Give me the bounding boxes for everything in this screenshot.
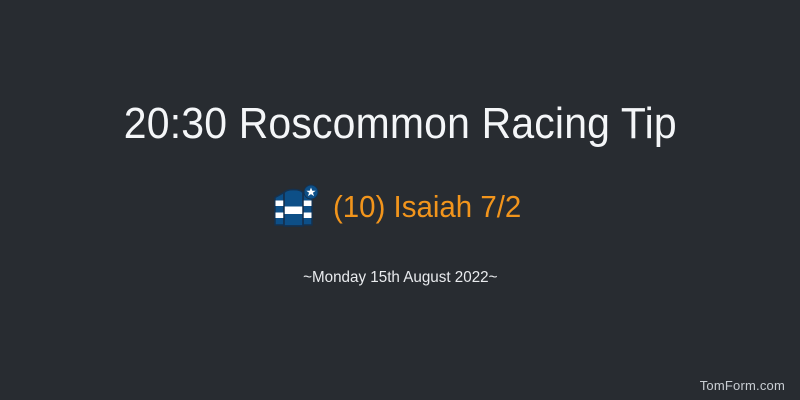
jockey-silks-icon (269, 184, 321, 230)
tip-selection-text: (10) Isaiah 7/2 (333, 189, 521, 225)
title-row: 20:30 Roscommon Racing Tip (0, 98, 800, 150)
site-watermark: TomForm.com (700, 378, 785, 394)
page-title: 20:30 Roscommon Racing Tip (123, 98, 676, 150)
racing-tip-card: 20:30 Roscommon Racing Tip (10) Is (0, 0, 800, 400)
date-row: ~Monday 15th August 2022~ (0, 267, 800, 289)
race-date: ~Monday 15th August 2022~ (303, 267, 497, 289)
tip-row: (10) Isaiah 7/2 (0, 184, 800, 230)
